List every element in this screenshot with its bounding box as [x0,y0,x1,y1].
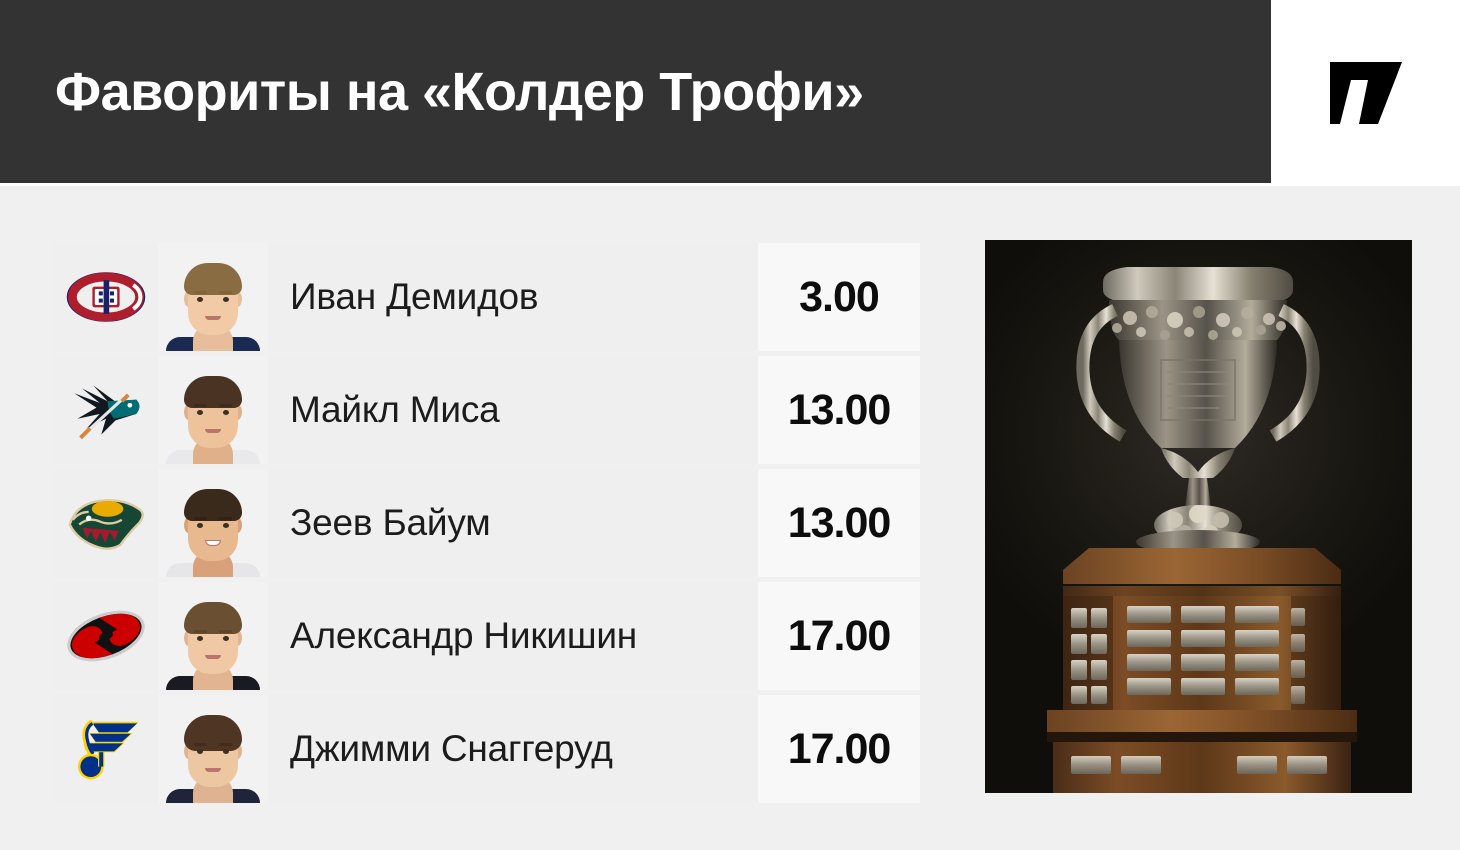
cup-foliage [1161,448,1235,478]
player-name-cell: Майкл Миса [268,356,758,464]
carolina-hurricanes-logo-icon [64,606,148,666]
player-photo-snuggerud [158,695,268,803]
page-title: Фавориты на «Колдер Трофи» [55,65,864,119]
player-photo-demidov [158,243,268,351]
team-logo-cell [53,243,158,351]
table-row[interactable]: Джимми Снаггеруд 17.00 [53,695,920,803]
team-logo-cell [53,469,158,577]
brand-logo-container[interactable] [1271,0,1460,186]
player-name-cell: Зеев Байум [268,469,758,577]
table-row[interactable]: Иван Демидов 3.00 [53,243,920,351]
page-header: Фавориты на «Колдер Трофи» [0,0,1460,186]
odds-cell: 17.00 [758,695,920,803]
odds-cell: 3.00 [758,243,920,351]
minnesota-wild-logo-icon [65,493,147,553]
montreal-canadiens-logo-icon [66,269,146,325]
player-photo-buium [158,469,268,577]
player-photo-nikishin [158,582,268,690]
favorites-table: Иван Демидов 3.00 [53,236,920,808]
cup-body [1119,340,1277,448]
team-logo-cell [53,356,158,464]
player-name: Александр Никишин [290,615,637,657]
player-photo-cell [158,582,268,690]
team-logo-cell [53,695,158,803]
player-photo-cell [158,356,268,464]
cup-stem [1185,478,1211,508]
player-photo-cell [158,469,268,577]
odds-value: 13.00 [788,386,891,435]
trophy-illustration [985,240,1412,793]
player-photo-misa [158,356,268,464]
player-name: Иван Демидов [290,276,538,318]
player-name-cell: Джимми Снаггеруд [268,695,758,803]
odds-cell: 13.00 [758,469,920,577]
table-row[interactable]: Зеев Байум 13.00 [53,469,920,577]
odds-cell: 17.00 [758,582,920,690]
table-row[interactable]: Александр Никишин 17.00 [53,582,920,690]
table-row[interactable]: Майкл Миса 13.00 [53,356,920,464]
san-jose-sharks-logo-icon [66,379,146,441]
championat-logo-icon [1328,60,1404,126]
player-photo-cell [158,243,268,351]
calder-memorial-trophy-photo [985,240,1412,793]
base-cap [1063,548,1341,584]
st-louis-blues-logo-icon [68,717,144,781]
team-logo-cell [53,582,158,690]
base-molding [1047,710,1357,732]
odds-value: 17.00 [788,725,891,774]
player-name: Зеев Байум [290,502,491,544]
player-name-cell: Александр Никишин [268,582,758,690]
odds-cell: 13.00 [758,356,920,464]
player-name: Майкл Миса [290,389,500,431]
player-name: Джимми Снаггеруд [290,728,613,770]
player-photo-cell [158,695,268,803]
odds-value: 3.00 [799,273,879,322]
cup-rim [1103,267,1293,303]
odds-value: 13.00 [788,499,891,548]
header-title-bar: Фавориты на «Колдер Трофи» [0,0,1271,183]
player-name-cell: Иван Демидов [268,243,758,351]
base-plates-front [1127,606,1305,704]
odds-value: 17.00 [788,612,891,661]
